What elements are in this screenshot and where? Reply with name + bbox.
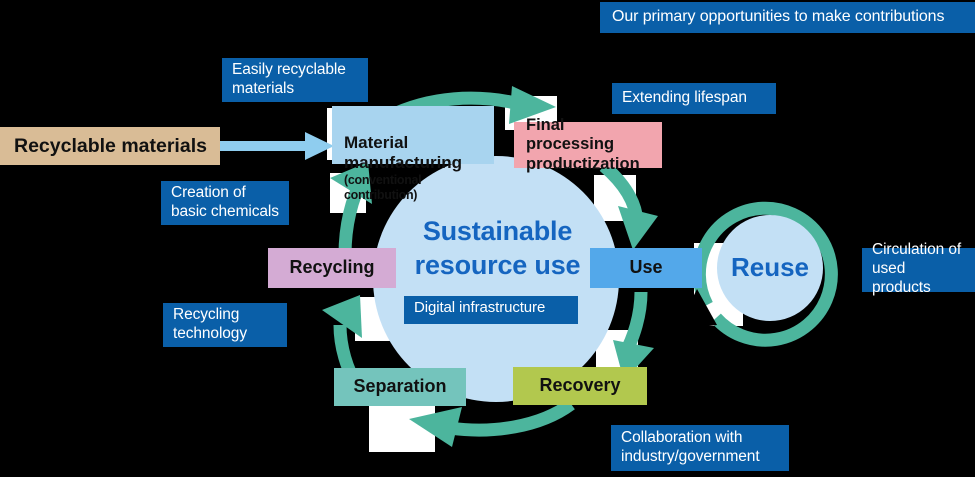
callout-circulation-of-used-products: Circulation of used products <box>862 248 975 292</box>
node-separation: Separation <box>334 368 466 406</box>
center-label-sustainable-resource-use: Sustainable resource use <box>375 215 620 283</box>
callout-digital-infrastructure: Digital infrastructure <box>404 296 578 324</box>
arrowhead-right-upper <box>618 206 658 250</box>
node-material-manufacturing-label: Material manufacturing <box>344 133 462 172</box>
node-recovery: Recovery <box>513 367 647 405</box>
node-final-processing-productization: Final processing productization <box>514 122 662 168</box>
node-material-manufacturing: Material manufacturing (conventional con… <box>332 106 494 164</box>
callout-easily-recyclable-materials: Easily recyclable materials <box>222 58 368 102</box>
diagram-canvas: Our primary opportunities to make contri… <box>0 0 975 477</box>
primary-opportunities-banner: Our primary opportunities to make contri… <box>600 2 975 33</box>
arrow-recovery-to-separation <box>450 404 571 430</box>
input-recyclable-materials: Recyclable materials <box>0 127 220 165</box>
input-arrow <box>218 132 334 160</box>
callout-creation-of-basic-chemicals: Creation of basic chemicals <box>161 181 289 225</box>
callout-collaboration-with-industry-government: Collaboration with industry/government <box>611 425 789 471</box>
callout-recycling-technology: Recycling technology <box>163 303 287 347</box>
reuse-label: Reuse <box>710 252 830 283</box>
node-material-manufacturing-sublabel: (conventional contribution) <box>344 173 482 203</box>
callout-extending-lifespan: Extending lifespan <box>612 83 776 114</box>
